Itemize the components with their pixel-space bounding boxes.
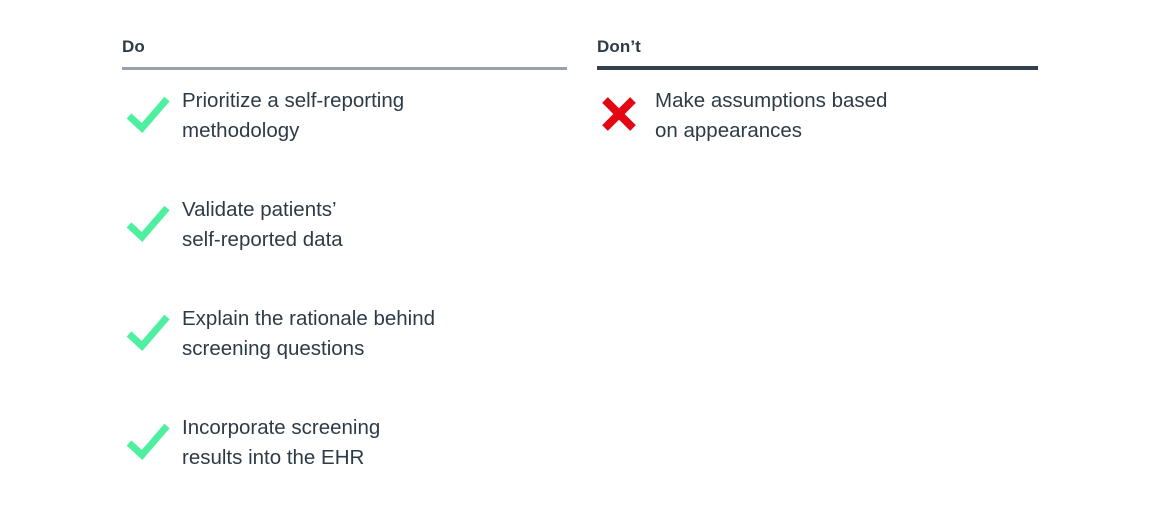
list-item-label: Prioritize a self-reporting methodology bbox=[182, 86, 404, 146]
dont-list: Make assumptions based on appearances bbox=[597, 86, 1038, 195]
list-item: Explain the rationale behind screening q… bbox=[122, 304, 567, 413]
do-list: Prioritize a self-reporting methodology … bbox=[122, 86, 567, 522]
list-item-label: Make assumptions based on appearances bbox=[655, 86, 887, 146]
list-item: Prioritize a self-reporting methodology bbox=[122, 86, 567, 195]
list-item-label: Incorporate screening results into the E… bbox=[182, 413, 380, 473]
check-icon bbox=[125, 422, 171, 462]
check-icon bbox=[125, 95, 171, 135]
do-column-heading: Do bbox=[122, 37, 145, 57]
list-item: Validate patients’ self-reported data bbox=[122, 195, 567, 304]
check-icon bbox=[125, 313, 171, 353]
do-column-divider bbox=[122, 67, 567, 70]
dont-column-heading: Don’t bbox=[597, 37, 641, 57]
list-item-label: Explain the rationale behind screening q… bbox=[182, 304, 435, 364]
check-icon bbox=[125, 204, 171, 244]
do-and-dont-board: Do Prioritize a self-reporting methodolo… bbox=[0, 0, 1152, 506]
cross-icon bbox=[597, 95, 641, 133]
list-item-label: Validate patients’ self-reported data bbox=[182, 195, 343, 255]
dont-column-divider bbox=[597, 66, 1038, 70]
list-item: Make assumptions based on appearances bbox=[597, 86, 1038, 195]
